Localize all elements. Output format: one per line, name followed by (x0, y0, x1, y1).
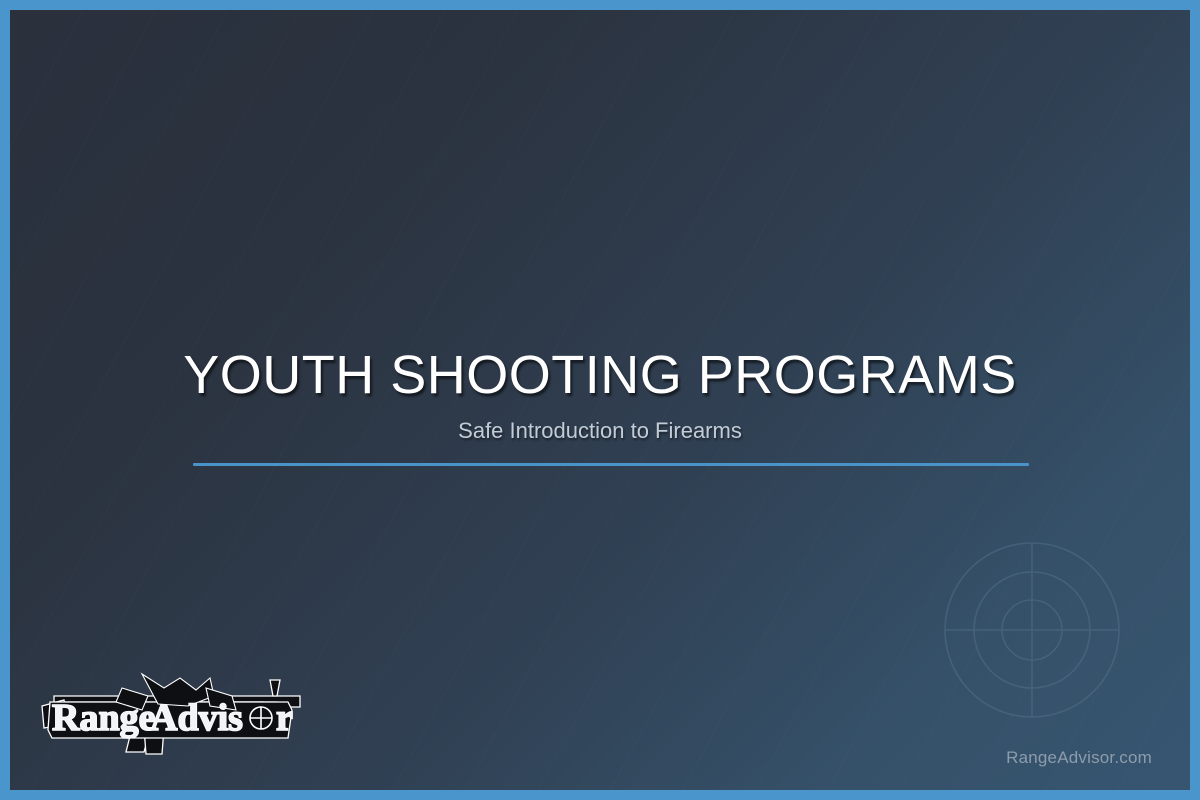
page-subtitle: Safe Introduction to Firearms (10, 418, 1190, 444)
logo-text-advis: Advis (150, 697, 243, 739)
presentation-slide: YOUTH SHOOTING PROGRAMS Safe Introductio… (0, 0, 1200, 800)
page-title: YOUTH SHOOTING PROGRAMS (10, 346, 1190, 404)
scope-reticle-icon (250, 707, 272, 729)
crosshair-target-icon (922, 520, 1142, 740)
title-divider (193, 463, 1029, 466)
title-block: YOUTH SHOOTING PROGRAMS Safe Introductio… (10, 346, 1190, 444)
logo-text-r: r (276, 697, 293, 739)
slide-content-area: YOUTH SHOOTING PROGRAMS Safe Introductio… (10, 10, 1190, 790)
logo-text-range: Range (52, 697, 155, 739)
footer-website-url: RangeAdvisor.com (1006, 748, 1152, 768)
brand-logo: Range Advis r (38, 666, 314, 758)
